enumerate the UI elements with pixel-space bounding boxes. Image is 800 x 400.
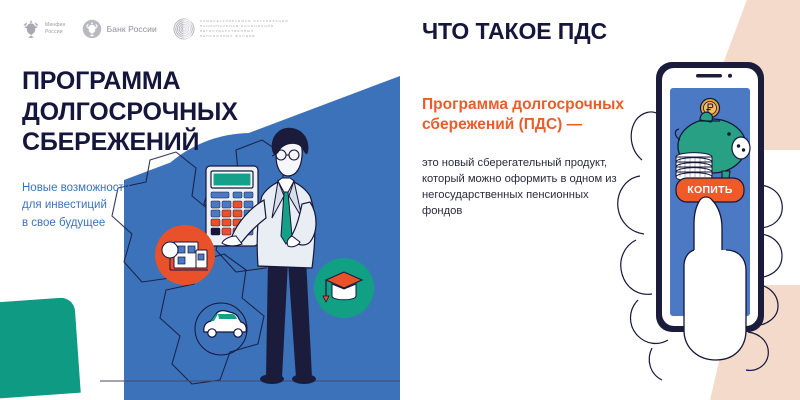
minfin-logo-label: Минфин России	[45, 22, 66, 37]
blue-circle-shape	[126, 133, 376, 383]
section-title: ЧТО ТАКОЕ ПДС	[422, 18, 607, 45]
napf-logo: САМОРЕГУЛИРУЕМАЯ ОРГАНИЗАЦИЯ НАЦИОНАЛЬНА…	[173, 18, 289, 40]
logo-row: Минфин России Банк Росс	[22, 18, 289, 40]
kopit-button-label[interactable]: КОПИТЬ	[677, 184, 743, 196]
definition-term: Программа долгосрочных сбережений (ПДС) …	[422, 95, 637, 135]
bank-rossii-logo: Банк России	[82, 19, 157, 39]
left-panel: Минфин России Банк Росс	[0, 0, 400, 400]
minfin-logo: Минфин России	[22, 19, 66, 39]
right-panel: ЧТО ТАКОЕ ПДС Программа долгосрочных сбе…	[400, 0, 800, 400]
definition-body: это новый сберегательный продукт, которы…	[422, 156, 617, 220]
double-headed-eagle-emblem-icon	[82, 19, 102, 39]
napf-logo-label: САМОРЕГУЛИРУЕМАЯ ОРГАНИЗАЦИЯ НАЦИОНАЛЬНА…	[200, 19, 289, 38]
bank-rossii-logo-label: Банк России	[107, 23, 157, 35]
page-title: ПРОГРАММА ДОЛГОСРОЧНЫХ СБЕРЕЖЕНИЙ	[22, 66, 238, 158]
piggy-bank-icon	[675, 112, 750, 178]
infographic-poster: Минфин России Банк Росс	[0, 0, 800, 400]
double-headed-eagle-emblem-icon	[22, 19, 40, 39]
coin-icon	[701, 99, 720, 118]
phone-screen	[670, 88, 750, 316]
coin-stack-icon	[676, 153, 712, 182]
concentric-circles-emblem-icon	[173, 18, 195, 40]
page-subtitle: Новые возможности для инвестиций в свое …	[22, 180, 130, 232]
